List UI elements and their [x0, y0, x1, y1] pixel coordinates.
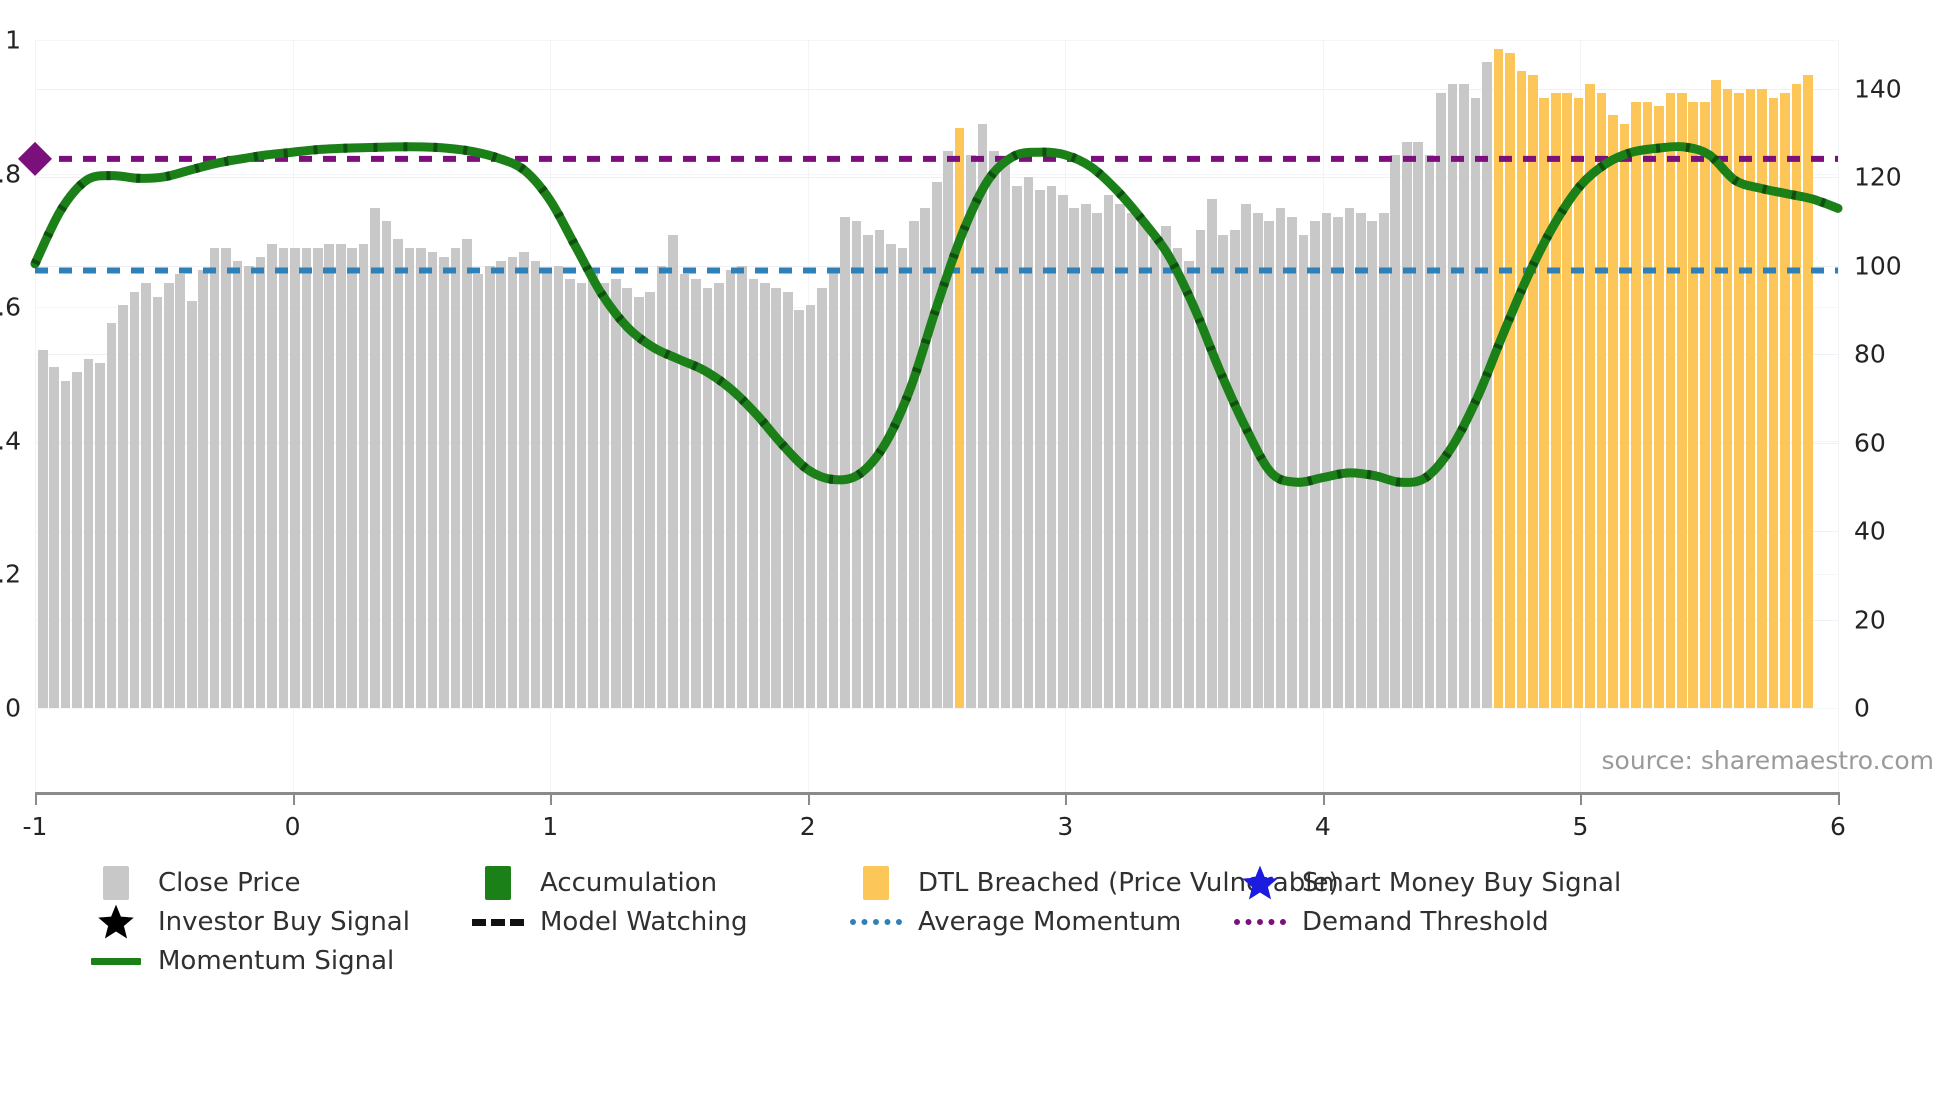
x-axis-tick-label: 2	[800, 812, 816, 841]
legend-momentum-signal[interactable]: Momentum Signal	[88, 940, 394, 982]
line-overlays	[35, 40, 1838, 708]
legend-smart-money-buy-signal[interactable]: Smart Money Buy Signal	[1232, 862, 1621, 904]
x-axis-tick	[808, 792, 810, 805]
y-axis-right-tick-label: 0	[1838, 694, 1870, 723]
legend-model-watching[interactable]: Model Watching	[470, 901, 747, 943]
y-axis-right-tick-label: 20	[1838, 605, 1886, 634]
legend-investor-buy-signal[interactable]: Investor Buy Signal	[88, 901, 410, 943]
gridline	[35, 708, 1838, 709]
x-axis-tick	[1580, 792, 1582, 805]
legend-swatch-icon	[485, 866, 511, 900]
y-axis-right-tick-label: 80	[1838, 340, 1886, 369]
x-axis-tick-label: 6	[1830, 812, 1846, 841]
y-axis-left-tick-label: 0.8	[0, 159, 35, 188]
source-note: source: sharemaestro.com	[1602, 746, 1935, 775]
y-axis-right-tick-label: 40	[1838, 517, 1886, 546]
legend-label: Investor Buy Signal	[158, 907, 410, 937]
plot-area	[35, 40, 1838, 708]
legend-label: Smart Money Buy Signal	[1302, 868, 1621, 898]
legend-swatch-icon	[863, 866, 889, 900]
chart-root: 00.20.40.60.81 020406080100120140 -10123…	[0, 0, 1960, 1102]
legend-row: Momentum Signal	[0, 940, 1960, 982]
x-axis-line	[35, 792, 1838, 795]
legend-demand-threshold[interactable]: Demand Threshold	[1232, 901, 1549, 943]
x-axis-tick-label: 3	[1057, 812, 1073, 841]
x-axis-tick-label: 0	[285, 812, 301, 841]
y-axis-left-tick-label: 0.2	[0, 560, 35, 589]
x-axis-tick	[293, 792, 295, 805]
y-axis-right-tick-label: 100	[1838, 251, 1902, 280]
legend-star-icon	[96, 903, 136, 941]
y-axis-left-tick-label: 1	[5, 26, 35, 55]
legend-label: Close Price	[158, 868, 301, 898]
x-axis-tick	[1838, 792, 1840, 805]
legend-solid-line-icon	[91, 958, 141, 965]
legend-close-price[interactable]: Close Price	[88, 862, 301, 904]
legend-star-icon	[1240, 864, 1280, 902]
legend-average-momentum[interactable]: Average Momentum	[848, 901, 1181, 943]
chart-plot: 00.20.40.60.81 020406080100120140 -10123…	[0, 0, 1960, 800]
legend-swatch-icon	[103, 866, 129, 900]
legend-dotted-line-icon	[1234, 919, 1286, 925]
y-axis-left-tick-label: 0	[5, 694, 35, 723]
y-axis-left-tick-label: 0.4	[0, 426, 35, 455]
x-axis-tick-label: 1	[542, 812, 558, 841]
y-axis-right-tick-label: 140	[1838, 74, 1902, 103]
vertical-gridline	[1838, 40, 1839, 792]
legend-label: Model Watching	[540, 907, 747, 937]
x-axis-tick-label: 5	[1572, 812, 1588, 841]
legend-row: Investor Buy SignalModel WatchingAverage…	[0, 901, 1960, 943]
legend-label: Accumulation	[540, 868, 717, 898]
legend-label: Demand Threshold	[1302, 907, 1549, 937]
x-axis-tick	[550, 792, 552, 805]
legend-label: Momentum Signal	[158, 946, 394, 976]
legend-dotted-line-icon	[850, 919, 902, 925]
y-axis-right-tick-label: 60	[1838, 428, 1886, 457]
x-axis-tick	[1065, 792, 1067, 805]
x-axis-tick-label: 4	[1315, 812, 1331, 841]
y-axis-right-tick-label: 120	[1838, 163, 1902, 192]
x-axis-tick-label: -1	[23, 812, 48, 841]
x-axis-tick	[35, 792, 37, 805]
legend-dashed-line-icon	[472, 919, 524, 926]
legend-row: Close PriceAccumulationDTL Breached (Pri…	[0, 862, 1960, 904]
chart-legend: Close PriceAccumulationDTL Breached (Pri…	[0, 862, 1960, 1102]
legend-label: Average Momentum	[918, 907, 1181, 937]
legend-accumulation[interactable]: Accumulation	[470, 862, 717, 904]
y-axis-left-tick-label: 0.6	[0, 293, 35, 322]
x-axis-tick	[1323, 792, 1325, 805]
